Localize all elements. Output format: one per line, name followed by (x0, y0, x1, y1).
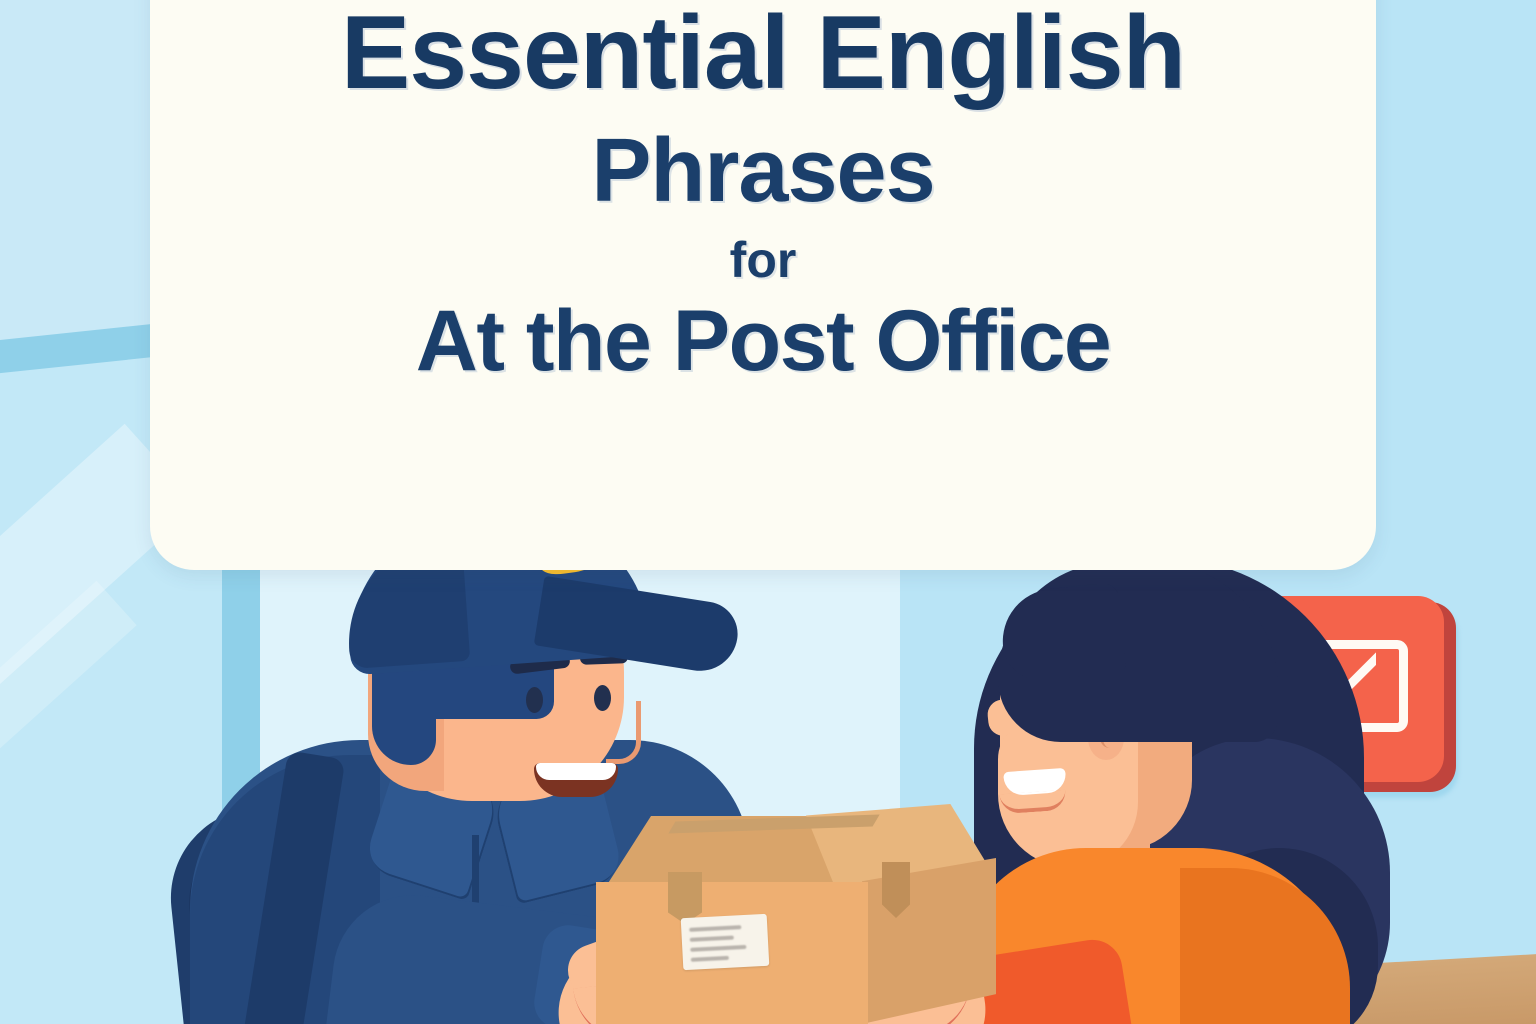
page-title-line-2: Phrases (150, 124, 1376, 219)
customer (930, 548, 1450, 1024)
poster-canvas: Essential English Phrases for At the Pos… (0, 0, 1536, 1024)
worker-eye-left (526, 687, 543, 713)
customer-hair-fringe (998, 582, 1127, 684)
page-title-connector: for (150, 233, 1376, 288)
page-title-line-1: Essential English (150, 0, 1376, 106)
worker-nose (606, 701, 641, 764)
title-card: Essential English Phrases for At the Pos… (150, 0, 1376, 570)
title-block: Essential English Phrases for At the Pos… (150, 0, 1376, 386)
worker-teeth (536, 763, 616, 780)
page-title-line-3: At the Post Office (150, 296, 1376, 386)
shipping-label (681, 914, 770, 970)
parcel-box (596, 788, 986, 1024)
